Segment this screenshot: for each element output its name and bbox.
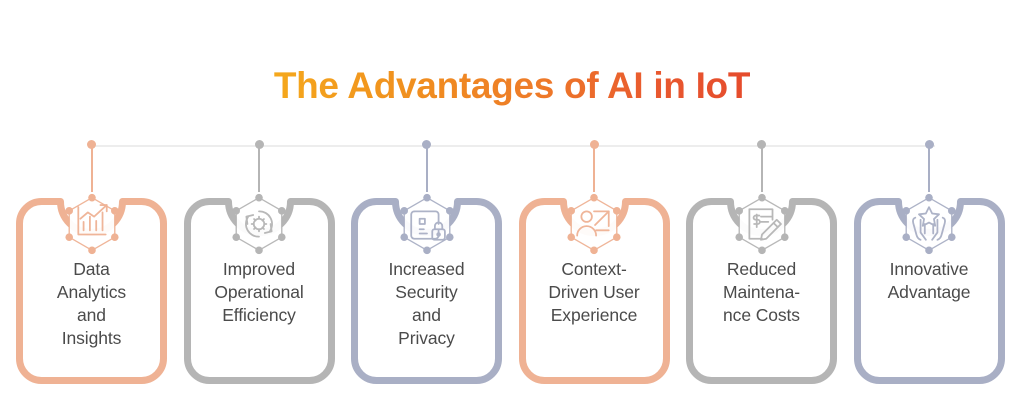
bar-chart-trend-icon [50,184,134,264]
hexagon-badge [887,184,971,264]
card-label: Context- Driven User Experience [523,258,666,327]
advantage-card-4[interactable]: Context- Driven User Experience [511,140,678,390]
advantage-card-6[interactable]: Innovative Advantage [846,140,1013,390]
advantage-card-1[interactable]: Data Analytics and Insights [8,140,175,390]
advantage-card-3[interactable]: Increased Security and Privacy [343,140,510,390]
card-label: Data Analytics and Insights [20,258,163,350]
hexagon-badge [552,184,636,264]
advantage-card-2[interactable]: Improved Operational Efficiency [176,140,343,390]
hexagon-badge [50,184,134,264]
advantage-card-5[interactable]: Reduced Maintena- nce Costs [678,140,845,390]
invoice-pen-icon [720,184,804,264]
card-label: Improved Operational Efficiency [188,258,331,327]
user-arrow-icon [552,184,636,264]
hexagon-badge [720,184,804,264]
hands-star-icon [887,184,971,264]
card-label: Reduced Maintena- nce Costs [690,258,833,327]
connector-dot [757,140,766,149]
hexagon-badge [217,184,301,264]
card-label: Innovative Advantage [858,258,1001,304]
connector-dot [255,140,264,149]
cards-container: Data Analytics and InsightsImproved Oper… [0,0,1024,412]
connector-dot [422,140,431,149]
card-label: Increased Security and Privacy [355,258,498,350]
connector-dot [925,140,934,149]
connector-dot [87,140,96,149]
gear-refresh-icon [217,184,301,264]
hexagon-badge [385,184,469,264]
shield-lock-icon [385,184,469,264]
connector-dot [590,140,599,149]
infographic-root: The Advantages of AI in IoT Data Analyti… [0,0,1024,412]
